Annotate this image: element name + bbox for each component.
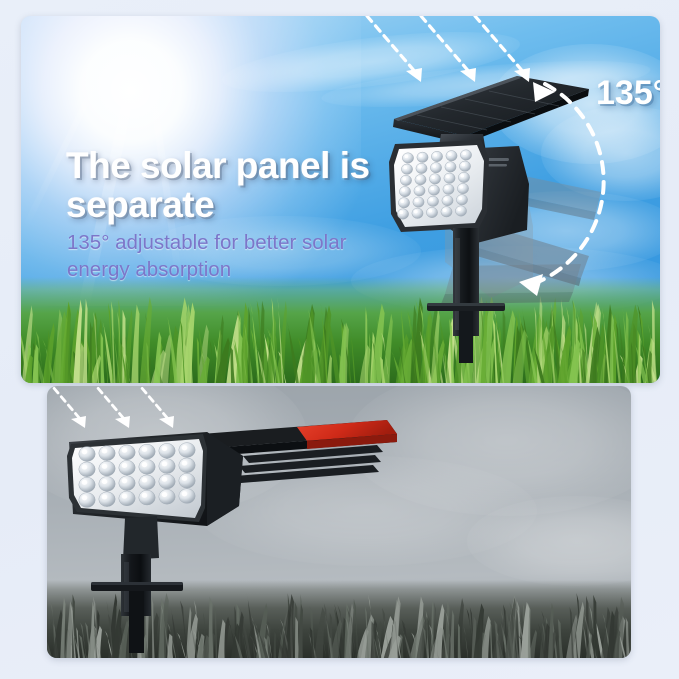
fixed-light-head	[67, 420, 397, 526]
ghost-body-swing	[445, 164, 533, 298]
mounting-pole	[427, 228, 505, 363]
cloud	[219, 20, 523, 104]
sunlight-arrows-bottom	[47, 386, 169, 420]
mounting-pole-fixed	[91, 516, 183, 653]
headline-top: The solar panel is separate	[66, 146, 396, 224]
grass-foreground	[21, 277, 660, 383]
led-array-face	[389, 140, 489, 232]
grass-foreground-dull	[47, 580, 631, 658]
rotation-arc-indicator	[519, 82, 604, 296]
cloud	[47, 386, 307, 516]
panel-panel-cannot-adjust: Panel can't adjust independently	[47, 386, 631, 658]
cloud	[467, 496, 631, 586]
cloud	[347, 386, 631, 516]
light-head	[425, 146, 529, 244]
ghost-panel-position-mid	[469, 166, 601, 220]
cloud	[197, 456, 537, 566]
sunlight-arrows	[367, 16, 525, 74]
sunlight-arrowheads-bottom	[71, 416, 174, 428]
panel-hinge	[437, 134, 487, 158]
cloud	[351, 246, 660, 316]
cloud	[451, 191, 660, 271]
cloud	[541, 106, 660, 201]
panel-solar-panel-separate: The solar panel is separate 135° adjusta…	[21, 16, 660, 383]
ghost-panel-position-bottom	[441, 264, 581, 304]
product-graphic-bottom	[47, 386, 631, 658]
subheadline-top: 135° adjustable for better solar energy …	[67, 229, 377, 283]
sunlight-arrowheads	[406, 68, 530, 82]
infographic-stage: The solar panel is separate 135° adjusta…	[0, 0, 679, 679]
solar-panel	[393, 76, 589, 144]
angle-label-135: 135°	[596, 74, 660, 113]
ghost-panel-position-low	[463, 221, 589, 286]
grass-blades-bottom	[47, 386, 631, 658]
